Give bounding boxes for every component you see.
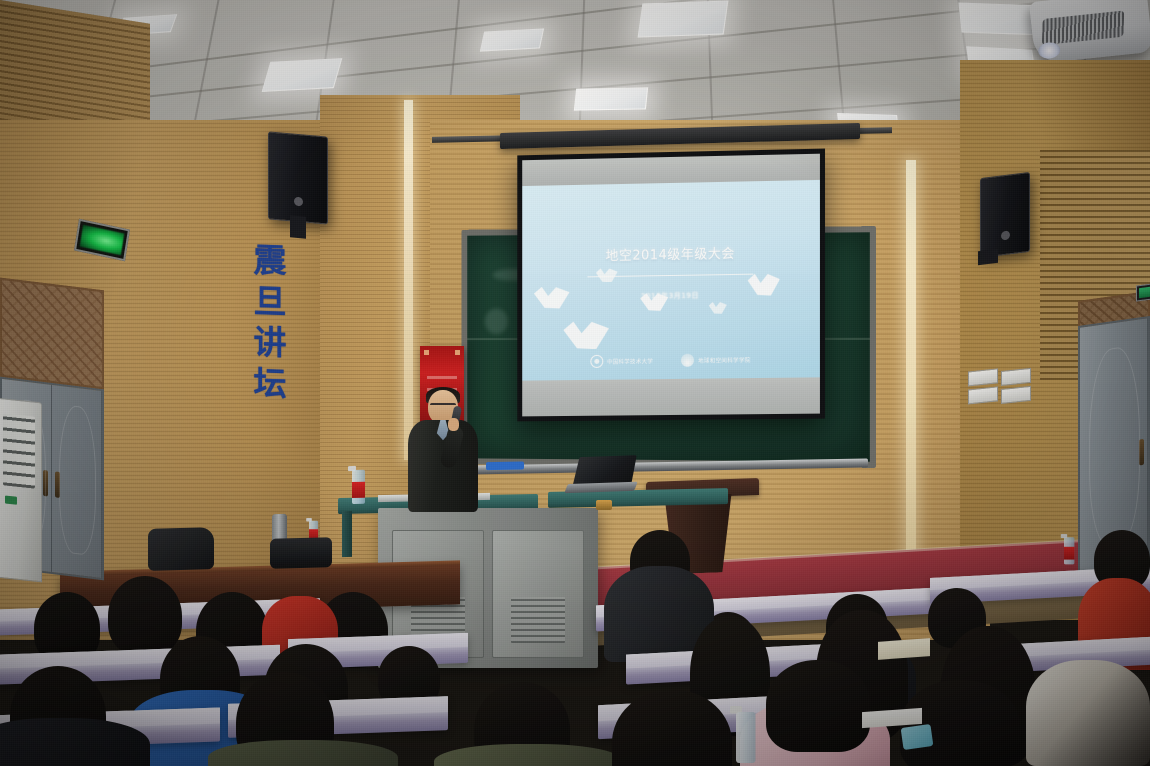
presenter	[404, 390, 480, 510]
ceiling-light-panel	[262, 58, 343, 92]
audience-hair-long	[766, 660, 870, 752]
calligraphy-char: 旦	[254, 284, 287, 318]
wall-socket-group[interactable]	[968, 365, 1034, 408]
slide-logo-label: 地球和空间科学学院	[698, 356, 750, 365]
calligraphy-char: 讲	[254, 325, 287, 359]
laptop[interactable]	[566, 455, 632, 495]
ring-logo-icon	[590, 355, 603, 368]
calligraphy-char: 坛	[254, 366, 287, 400]
wall-speaker-right-icon	[980, 172, 1030, 258]
marker-icon	[486, 462, 524, 471]
audience-head	[108, 576, 182, 656]
ceiling-light-panel	[574, 87, 648, 110]
cabinet-door[interactable]	[492, 530, 584, 658]
ceiling-light-panel	[638, 0, 729, 37]
lecture-hall-photo: 震 旦 讲 坛 地空20	[0, 0, 1150, 766]
wall-socket[interactable]	[968, 368, 998, 386]
slide-logo-university: 中国科学技术大学	[590, 354, 653, 368]
fur-collar-coat	[1026, 660, 1150, 766]
slide-logo-label: 中国科学技术大学	[607, 357, 653, 366]
paper-crane-icon	[563, 321, 609, 349]
presentation-slide: 地空2014级年级大会 2017年3月19日 中国科学技术大学 地球和空间科学学…	[522, 180, 820, 381]
wall-socket[interactable]	[1001, 368, 1031, 386]
presenter-hand	[448, 418, 459, 431]
paper-crane-icon	[709, 302, 727, 314]
ceiling-light-panel	[480, 28, 544, 51]
wall-calligraphy: 震 旦 讲 坛	[240, 243, 300, 401]
podium-latch[interactable]	[596, 500, 612, 510]
speaker-bracket-left	[290, 215, 306, 238]
desk-leg	[342, 511, 352, 557]
slide-logo-school: 地球和空间科学学院	[681, 353, 750, 367]
audience-torso	[0, 718, 150, 766]
slide-title: 地空2014级年级大会	[522, 241, 820, 265]
backpack	[148, 527, 214, 571]
speaker-bracket-right	[978, 249, 998, 265]
wall-socket[interactable]	[968, 386, 998, 404]
projection-screen: 地空2014级年级大会 2017年3月19日 中国科学技术大学 地球和空间科学学…	[517, 149, 825, 422]
wall-socket[interactable]	[1001, 386, 1031, 404]
wall-speaker-left-icon	[268, 131, 328, 224]
olive-jacket	[434, 744, 624, 766]
wall-light-strip-right	[906, 160, 916, 580]
glasses-icon	[430, 403, 456, 409]
notebook-paper	[878, 638, 930, 660]
calligraphy-char: 震	[254, 243, 287, 277]
door-transom-grille	[0, 278, 104, 389]
status-display-panel	[1136, 282, 1150, 301]
disc-logo-icon	[681, 354, 694, 367]
slide-logo-row: 中国科学技术大学 地球和空间科学学院	[522, 352, 820, 369]
air-conditioner	[0, 398, 42, 583]
olive-jacket	[208, 740, 398, 766]
laptop-bag	[270, 537, 332, 569]
phone[interactable]	[901, 724, 934, 750]
slide-date: 2017年3月19日	[522, 288, 820, 303]
